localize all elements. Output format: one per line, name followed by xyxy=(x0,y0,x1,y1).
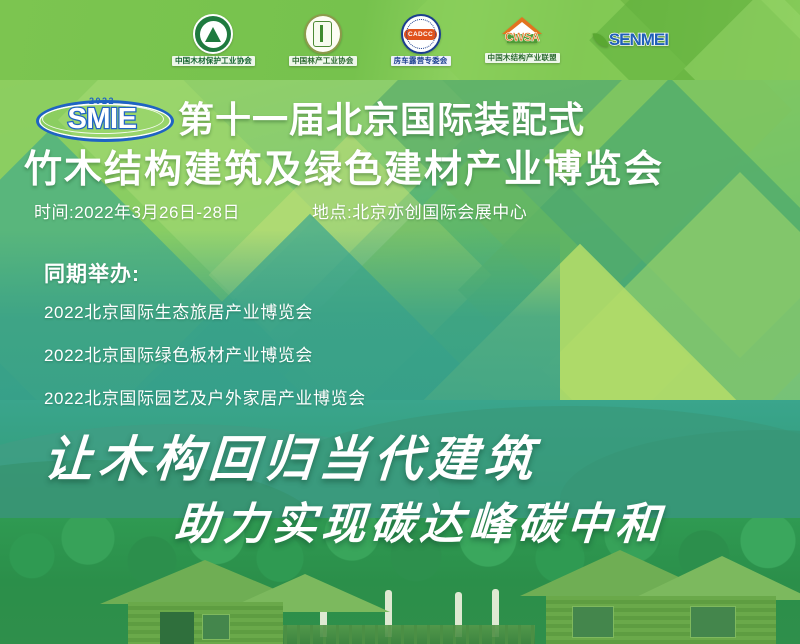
smie-wordmark: SMIE xyxy=(36,103,168,136)
concurrent-events-list: 2022北京国际生态旅居产业博览会 2022北京国际绿色板材产业博览会 2022… xyxy=(44,298,744,427)
sponsor-caption: 中国木材保护工业协会 xyxy=(172,56,255,66)
list-item: 2022北京国际园艺及户外家居产业博览会 xyxy=(44,384,744,409)
smie-logo: 2022 SMIE xyxy=(36,94,168,140)
tree-shield-icon xyxy=(193,14,233,54)
sponsor-logo-strip: 中国木材保护工业协会 中国林产工业协会 CADCC 房车露营专委会 xyxy=(0,0,800,80)
event-venue: 地点:北京亦创国际会展中心 xyxy=(312,198,527,223)
list-item: 2022北京国际绿色板材产业博览会 xyxy=(44,341,744,366)
event-meta: 时间:2022年3月26日-28日 地点:北京亦创国际会展中心 xyxy=(34,198,764,223)
bamboo-seal-icon xyxy=(304,14,342,54)
sponsor-abbr: SENMEI xyxy=(609,30,668,50)
title-row: 2022 SMIE 第十一届北京国际装配式 xyxy=(36,92,796,142)
sponsor-logo-senmei: SENMEI xyxy=(594,30,668,50)
sponsor-logo-bamboo-industry-association: 中国林产工业协会 xyxy=(289,14,357,66)
event-date: 时间:2022年3月26日-28日 xyxy=(34,198,240,223)
sponsor-logo-row: 中国木材保护工业协会 中国林产工业协会 CADCC 房车露营专委会 xyxy=(0,0,800,80)
poster-content: 2022 SMIE 第十一届北京国际装配式 竹木结构建筑及绿色建材产业博览会 时… xyxy=(0,80,800,644)
sponsor-caption: 房车露营专委会 xyxy=(391,56,451,66)
sponsor-abbr: CWSA xyxy=(494,30,550,44)
bamboo-icon xyxy=(313,21,332,47)
slogan-line2: 助力实现碳达峰碳中和 xyxy=(173,488,667,552)
slogan-line1: 让木构回归当代建筑 xyxy=(42,420,542,491)
cadcc-seal-icon: CADCC xyxy=(401,14,441,54)
sponsor-caption: 中国木结构产业联盟 xyxy=(485,53,560,63)
tree-icon xyxy=(205,27,221,42)
sponsor-caption: 中国林产工业协会 xyxy=(289,56,357,66)
concurrent-events-heading: 同期举办: xyxy=(44,258,140,288)
seal-ring xyxy=(406,19,436,49)
house-roof-icon: CWSA xyxy=(494,17,550,51)
leaf-shape xyxy=(592,31,608,49)
list-item: 2022北京国际生态旅居产业博览会 xyxy=(44,298,744,323)
sponsor-logo-china-timber-protection-association: 中国木材保护工业协会 xyxy=(172,14,255,66)
exhibition-poster: 中国木材保护工业协会 中国林产工业协会 CADCC 房车露营专委会 xyxy=(0,0,800,644)
sponsor-logo-cadcc: CADCC 房车露营专委会 xyxy=(391,14,451,66)
leaf-icon: SENMEI xyxy=(594,30,668,50)
sponsor-logo-cwsa: CWSA 中国木结构产业联盟 xyxy=(485,17,560,63)
page-title-line1: 第十一届北京国际装配式 xyxy=(178,91,585,143)
page-title-line2: 竹木结构建筑及绿色建材产业博览会 xyxy=(24,138,784,193)
tree-shield-icon-inner xyxy=(200,21,227,48)
